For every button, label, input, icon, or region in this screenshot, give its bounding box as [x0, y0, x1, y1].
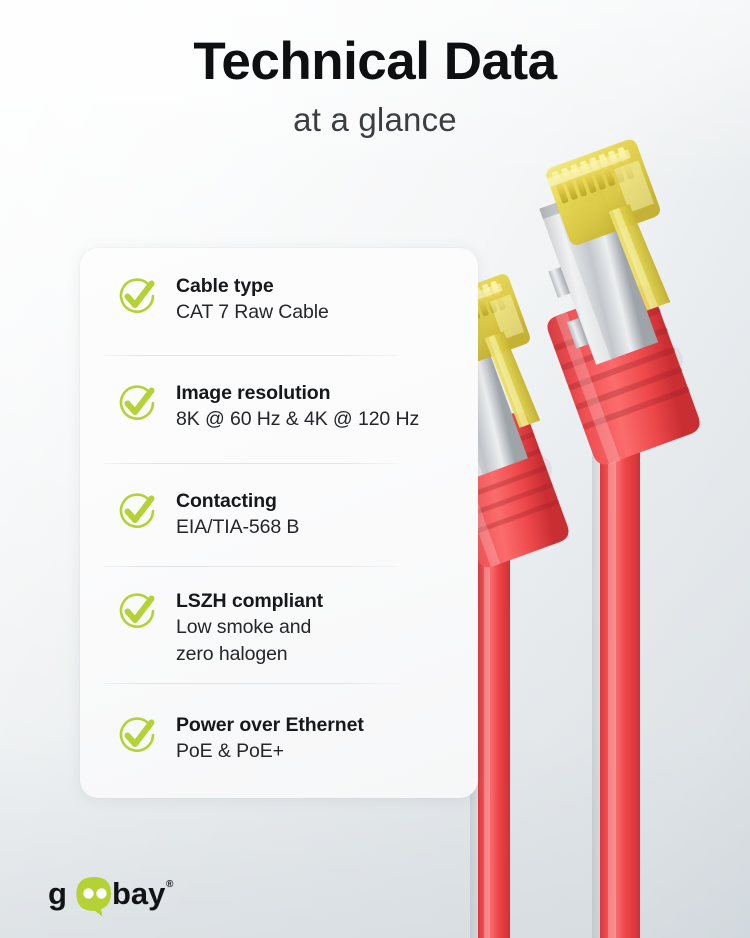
spec-item-lszh-compliant: LSZH compliant Low smoke and zero haloge… — [80, 587, 478, 667]
technical-data-infographic: Technical Data at a glance — [0, 0, 750, 938]
logo-eye-right — [96, 888, 106, 898]
spec-text: Contacting EIA/TIA-568 B — [176, 487, 299, 541]
logo-trademark: ® — [166, 879, 174, 890]
spec-value: 8K @ 60 Hz & 4K @ 120 Hz — [176, 406, 419, 432]
spec-item-contacting: Contacting EIA/TIA-568 B — [80, 487, 478, 541]
spec-divider — [103, 355, 398, 356]
logo-text-g: g — [48, 876, 67, 911]
spec-value-line: CAT 7 Raw Cable — [176, 299, 329, 325]
spec-divider — [103, 566, 398, 567]
spec-value-line: EIA/TIA-568 B — [176, 514, 299, 540]
check-circle-icon — [115, 381, 159, 425]
spec-title: Power over Ethernet — [176, 714, 364, 736]
logo-bubble — [76, 877, 111, 917]
spec-title: Contacting — [176, 490, 277, 512]
logo-text-bay: bay — [112, 876, 166, 911]
check-circle-icon — [115, 589, 159, 633]
rj45-connector-right — [527, 137, 704, 938]
spec-list: Cable type CAT 7 Raw Cable Image resolut… — [80, 248, 478, 798]
spec-value-line: Low smoke and — [176, 614, 323, 640]
spec-value: PoE & PoE+ — [176, 738, 364, 764]
spec-text: Power over Ethernet PoE & PoE+ — [176, 711, 364, 765]
spec-text: Cable type CAT 7 Raw Cable — [176, 272, 329, 326]
spec-value-line: PoE & PoE+ — [176, 738, 364, 764]
spec-title: Cable type — [176, 275, 274, 297]
spec-title: LSZH compliant — [176, 590, 323, 612]
spec-item-image-resolution: Image resolution 8K @ 60 Hz & 4K @ 120 H… — [80, 379, 478, 433]
spec-value-line: 8K @ 60 Hz & 4K @ 120 Hz — [176, 406, 419, 432]
spec-text: Image resolution 8K @ 60 Hz & 4K @ 120 H… — [176, 379, 419, 433]
check-circle-icon — [115, 274, 159, 318]
spec-text: LSZH compliant Low smoke and zero haloge… — [176, 587, 323, 667]
spec-item-power-over-ethernet: Power over Ethernet PoE & PoE+ — [80, 711, 478, 765]
page-subtitle: at a glance — [0, 100, 750, 140]
goobay-logo: g bay ® — [48, 873, 208, 917]
spec-card: Cable type CAT 7 Raw Cable Image resolut… — [80, 248, 478, 798]
spec-value: EIA/TIA-568 B — [176, 514, 299, 540]
page-title: Technical Data — [0, 34, 750, 89]
spec-value: CAT 7 Raw Cable — [176, 299, 329, 325]
logo-eye-left — [83, 888, 93, 898]
spec-value: Low smoke and zero halogen — [176, 614, 323, 667]
spec-title: Image resolution — [176, 382, 330, 404]
check-circle-icon — [115, 713, 159, 757]
spec-value-line: zero halogen — [176, 641, 323, 667]
header: Technical Data at a glance — [0, 34, 750, 140]
check-circle-icon — [115, 489, 159, 533]
spec-item-cable-type: Cable type CAT 7 Raw Cable — [80, 272, 478, 326]
spec-divider — [103, 683, 398, 684]
spec-divider — [103, 463, 398, 464]
